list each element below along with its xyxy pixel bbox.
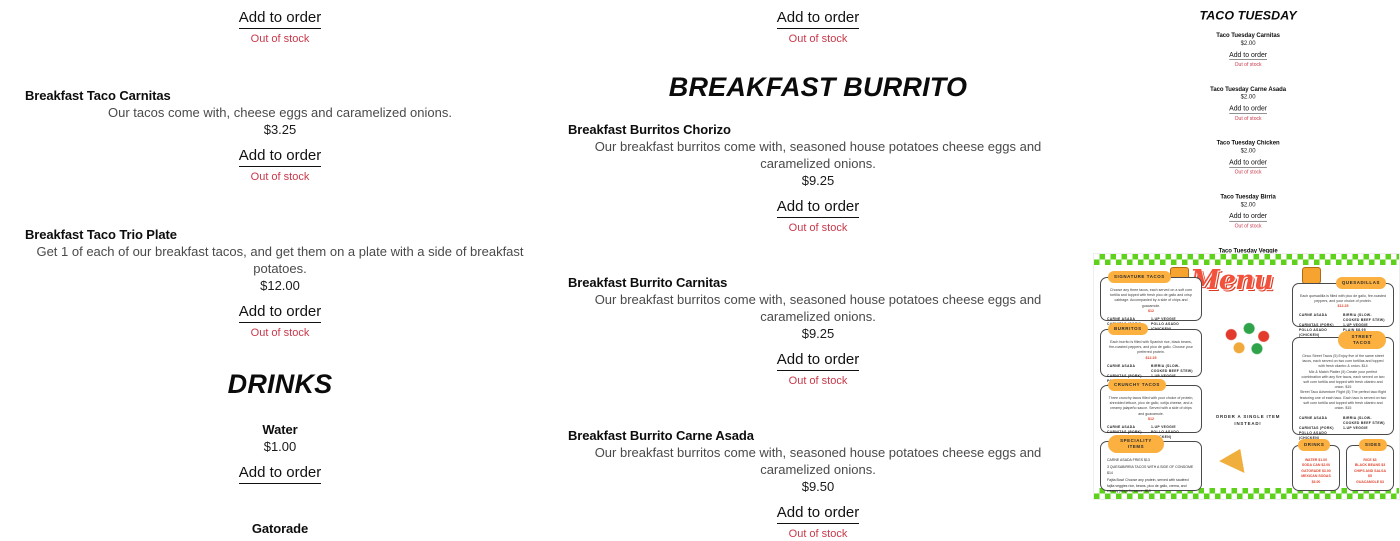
item-price: $1.00 — [25, 438, 535, 455]
item-price: $9.25 — [568, 325, 1068, 342]
poster-center-note: ORDER A SINGLE ITEM INSTEAD! — [1206, 413, 1290, 427]
card-option: BIRRIA (SLOW-COOKED BEEF STEW) — [1151, 364, 1195, 374]
card-option: CARNE ASADA — [1299, 416, 1343, 426]
card-option: CARNE ASADA — [1299, 313, 1343, 323]
add-to-order-wrap: Add to order — [25, 9, 535, 29]
menu-item-partial-top: Add to order Out of stock — [25, 9, 535, 46]
item-title: Water — [25, 421, 535, 438]
add-to-order-wrap: Add to order — [1186, 105, 1310, 114]
poster-card-drinks: DRINKS WATER $1.00 SODA CAN $2.00 GATORA… — [1292, 445, 1340, 491]
add-to-order-wrap: Add to order — [25, 303, 535, 323]
card-line: Fajita Bowl Choose any protein, served w… — [1107, 478, 1195, 494]
item-description: Our breakfast burritos come with, season… — [568, 138, 1068, 172]
add-to-order-wrap: Add to order — [25, 147, 535, 167]
item-title: Taco Tuesday Chicken — [1186, 139, 1310, 147]
tortilla-chip-icon — [1219, 443, 1253, 473]
checker-border-top — [1094, 254, 1399, 265]
item-title: Breakfast Burritos Chorizo — [568, 121, 1068, 138]
item-title: Gatorade — [25, 520, 535, 537]
out-of-stock-badge: Out of stock — [568, 374, 1068, 388]
menu-item-water: Water $1.00 Add to order — [25, 421, 535, 484]
item-price: $2.00 — [1186, 200, 1310, 208]
card-tab: CRUNCHY TACOS — [1108, 379, 1166, 391]
item-price: $9.50 — [568, 478, 1068, 495]
add-to-order-button[interactable]: Add to order — [239, 464, 322, 484]
card-option: 1-UP VEGGIE — [1343, 426, 1387, 431]
section-heading-breakfast-burrito: BREAKFAST BURRITO — [568, 71, 1068, 103]
add-to-order-wrap: Add to order — [1186, 158, 1310, 167]
card-lead-text: Each burrito is filled with Spanish rice… — [1107, 340, 1195, 356]
card-tab: SIDES — [1359, 439, 1387, 451]
card-lead-text: Street Taco Adventure Flight (5) The per… — [1299, 390, 1387, 411]
menu-item-taco-tuesday-chicken: Taco Tuesday Chicken $2.00 Add to order … — [1186, 139, 1310, 176]
out-of-stock-badge: Out of stock — [568, 32, 1068, 46]
food-truck-icon — [1302, 267, 1321, 284]
menu-item-taco-tuesday-birria: Taco Tuesday Birria $2.00 Add to order O… — [1186, 192, 1310, 229]
menu-poster-image: Menu ORDER A SINGLE ITEM INSTEAD! SIGNAT… — [1093, 253, 1400, 500]
poster-card-signature-tacos: SIGNATURE TACOS Choose any three tacos, … — [1100, 277, 1202, 321]
card-price: $12.25 — [1338, 304, 1349, 308]
add-to-order-button[interactable]: Add to order — [777, 351, 860, 371]
out-of-stock-badge: Out of stock — [25, 170, 535, 184]
item-description: Our breakfast burritos come with, season… — [568, 291, 1068, 325]
item-description: Get 1 of each of our breakfast tacos, an… — [25, 243, 535, 277]
card-tab: STREET TACOS — [1338, 331, 1386, 349]
add-to-order-wrap: Add to order — [568, 198, 1068, 218]
item-price: $12.00 — [25, 277, 535, 294]
item-title: Breakfast Taco Carnitas — [25, 87, 535, 104]
item-title: Taco Tuesday Carnitas — [1186, 31, 1310, 39]
item-price: $9.25 — [568, 172, 1068, 189]
add-to-order-button[interactable]: Add to order — [1229, 51, 1267, 60]
poster-card-speciality-items: SPECIALITY ITEMS CARNE ASADA FRIES $13 3… — [1100, 441, 1202, 491]
item-price: $3.25 — [25, 121, 535, 138]
menu-item-gatorade: Gatorade — [25, 520, 535, 537]
section-heading-taco-tuesday: TACO TUESDAY — [1186, 8, 1310, 23]
add-to-order-button[interactable]: Add to order — [1229, 158, 1267, 167]
add-to-order-button[interactable]: Add to order — [777, 198, 860, 218]
menu-item-taco-tuesday-carnitas: Taco Tuesday Carnitas $2.00 Add to order… — [1186, 31, 1310, 68]
add-to-order-wrap: Add to order — [1186, 212, 1310, 221]
add-to-order-wrap: Add to order — [1186, 51, 1310, 60]
menu-item-taco-tuesday-carne-asada: Taco Tuesday Carne Asada $2.00 Add to or… — [1186, 85, 1310, 122]
card-option: BIRRIA (SLOW-COOKED BEEF STEW) — [1343, 313, 1387, 323]
out-of-stock-badge: Out of stock — [568, 527, 1068, 541]
out-of-stock-badge: Out of stock — [25, 32, 535, 46]
card-option: BIRRIA (SLOW-COOKED BEEF STEW) — [1343, 416, 1387, 426]
menu-item-breakfast-taco-trio-plate: Breakfast Taco Trio Plate Get 1 of each … — [25, 226, 535, 340]
card-price: $12.25 — [1146, 356, 1157, 360]
item-title: Breakfast Taco Trio Plate — [25, 226, 535, 243]
item-price: $2.00 — [1186, 93, 1310, 101]
item-description: Our tacos come with, cheese eggs and car… — [25, 104, 535, 121]
add-to-order-wrap: Add to order — [568, 504, 1068, 524]
add-to-order-wrap: Add to order — [568, 9, 1068, 29]
card-tab: BURRITOS — [1108, 323, 1148, 335]
item-price: $2.00 — [1186, 146, 1310, 154]
vegetables-illustration — [1220, 317, 1276, 361]
card-line: MEXICAN SODAS $3.00 — [1299, 474, 1333, 485]
poster-card-burritos: BURRITOS Each burrito is filled with Spa… — [1100, 329, 1202, 377]
card-tab: QUESADILLAS — [1336, 277, 1386, 289]
item-title: Breakfast Burrito Carnitas — [568, 274, 1068, 291]
poster-card-quesadillas: QUESADILLAS Each quesadilla is filled wi… — [1292, 283, 1394, 327]
card-line: 3 QUESABIRRIA TACOS WITH A SIDE OF CONSO… — [1107, 465, 1195, 476]
menu-item-breakfast-burritos-chorizo: Breakfast Burritos Chorizo Our breakfast… — [568, 121, 1068, 235]
add-to-order-wrap: Add to order — [568, 351, 1068, 371]
out-of-stock-badge: Out of stock — [568, 221, 1068, 235]
card-lead-text: Three crunchy tacos filled with your cho… — [1107, 396, 1195, 417]
card-price: $12 — [1148, 417, 1154, 421]
card-tab: DRINKS — [1298, 439, 1330, 451]
menu-item-breakfast-taco-carnitas: Breakfast Taco Carnitas Our tacos come w… — [25, 87, 535, 184]
item-description: Our breakfast burritos come with, season… — [568, 444, 1068, 478]
card-option: CARNE ASADA — [1107, 364, 1151, 374]
section-heading-drinks: DRINKS — [25, 368, 535, 400]
card-lead-text: Mix & Match Platter (5) Create your perf… — [1299, 370, 1387, 391]
card-tab: SIGNATURE TACOS — [1108, 271, 1171, 283]
add-to-order-button[interactable]: Add to order — [239, 147, 322, 167]
menu-item-breakfast-burrito-carnitas: Breakfast Burrito Carnitas Our breakfast… — [568, 274, 1068, 388]
item-price: $2.00 — [1186, 39, 1310, 47]
right-menu-column: TACO TUESDAY Taco Tuesday Carnitas $2.00… — [1186, 8, 1310, 283]
card-line: GUACAMOLE $3 — [1353, 480, 1387, 485]
item-title: Breakfast Burrito Carne Asada — [568, 427, 1068, 444]
add-to-order-button[interactable]: Add to order — [1229, 105, 1267, 114]
add-to-order-button[interactable]: Add to order — [239, 303, 322, 323]
card-line: CHIPS AND SALSA $5 — [1353, 469, 1387, 480]
poster-card-street-tacos: STREET TACOS Cinco Street Tacos (5) Enjo… — [1292, 337, 1394, 435]
item-title: Taco Tuesday Carne Asada — [1186, 85, 1310, 93]
add-to-order-button[interactable]: Add to order — [239, 9, 322, 29]
add-to-order-button[interactable]: Add to order — [1229, 212, 1267, 221]
add-to-order-wrap: Add to order — [25, 464, 535, 484]
card-tab: SPECIALITY ITEMS — [1108, 435, 1164, 453]
card-lead-text: Each quesadilla is filled with pico de g… — [1299, 294, 1387, 304]
menu-item-partial-top: Add to order Out of stock — [568, 9, 1068, 46]
card-line: CARNE ASADA FRIES $13 — [1107, 458, 1195, 463]
menu-item-breakfast-burrito-carne-asada: Breakfast Burrito Carne Asada Our breakf… — [568, 427, 1068, 541]
out-of-stock-badge: Out of stock — [25, 326, 535, 340]
add-to-order-button[interactable]: Add to order — [777, 504, 860, 524]
card-lead-text: Cinco Street Tacos (5) Enjoy five of the… — [1299, 354, 1387, 370]
left-menu-column: Add to order Out of stock Breakfast Taco… — [25, 0, 535, 537]
poster-card-sides: SIDES RICE $3 BLACK BEANS $3 CHIPS AND S… — [1346, 445, 1394, 491]
card-lead-text: Choose any three tacos, each served on a… — [1107, 288, 1195, 309]
item-title: Taco Tuesday Birria — [1186, 192, 1310, 200]
middle-menu-column: Add to order Out of stock BREAKFAST BURR… — [568, 0, 1068, 541]
add-to-order-button[interactable]: Add to order — [777, 9, 860, 29]
card-price: $12 — [1148, 309, 1154, 313]
poster-title: Menu — [1190, 265, 1272, 296]
poster-card-crunchy-tacos: CRUNCHY TACOS Three crunchy tacos filled… — [1100, 385, 1202, 433]
